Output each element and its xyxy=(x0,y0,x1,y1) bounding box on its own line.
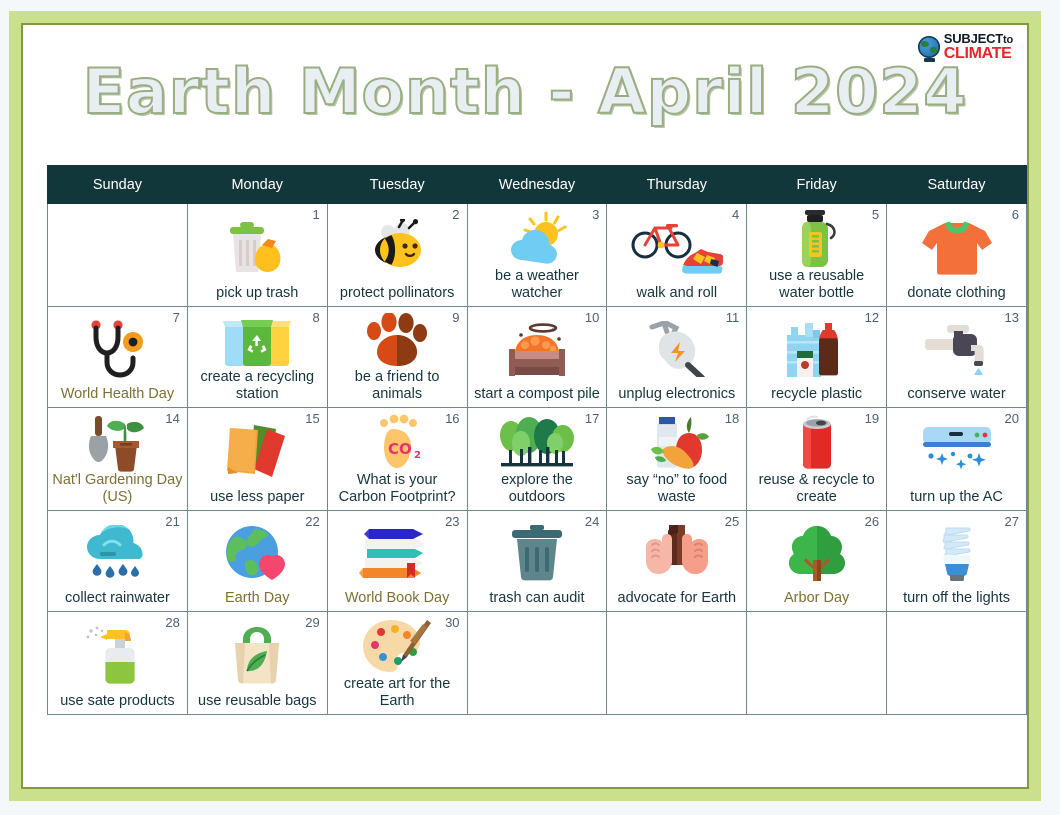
day-cell-content: 9be a friend to animals xyxy=(328,307,467,407)
activity-label: What is your Carbon Footprint? xyxy=(328,472,467,506)
day-cell-content: 16CO2What is your Carbon Footprint? xyxy=(328,408,467,510)
calendar-week-row: 28use sate products29use reusable bags30… xyxy=(48,612,1027,715)
day-cell-content: 7World Health Day xyxy=(48,307,187,407)
day-cell-content: 5use a reusable water bottle xyxy=(747,204,886,306)
calendar-cell-day-1[interactable]: 1pick up trash xyxy=(187,204,327,307)
day-cell-content xyxy=(607,612,746,714)
day-cell-content: 10start a compost pile xyxy=(468,307,607,407)
day-number: 1 xyxy=(312,207,319,222)
activity-label: Earth Day xyxy=(221,590,293,608)
weekday-header-wednesday: Wednesday xyxy=(467,166,607,204)
day-cell-content: 12recycle plastic xyxy=(747,307,886,407)
day-number: 28 xyxy=(165,615,179,630)
activity-label: create art for the Earth xyxy=(328,676,467,710)
trash-bag-icon xyxy=(188,204,327,285)
brand-logo-bottom: CLIMATE xyxy=(944,46,1013,61)
calendar-cell-day-2[interactable]: 2protect pollinators xyxy=(327,204,467,307)
brand-logo-top: SUBJECTto xyxy=(944,33,1013,45)
calendar-cell-day-27[interactable]: 27turn off the lights xyxy=(887,511,1027,612)
calendar-week-row: 7World Health Day8create a recycling sta… xyxy=(48,307,1027,408)
day-cell-content xyxy=(48,204,187,306)
calendar-cell-day-29[interactable]: 29use reusable bags xyxy=(187,612,327,715)
day-cell-content: 29use reusable bags xyxy=(188,612,327,714)
calendar-week-row: 21collect rainwater22Earth Day23World Bo… xyxy=(48,511,1027,612)
day-number: 17 xyxy=(585,411,599,426)
day-cell-content: 30create art for the Earth xyxy=(328,612,467,714)
day-number: 8 xyxy=(312,310,319,325)
day-number: 7 xyxy=(173,310,180,325)
activity-label: conserve water xyxy=(903,386,1009,404)
calendar-cell-empty xyxy=(747,612,887,715)
activity-label: collect rainwater xyxy=(61,590,174,608)
activity-label: walk and roll xyxy=(633,285,722,303)
day-cell-content: 23World Book Day xyxy=(328,511,467,611)
day-cell-content: 21collect rainwater xyxy=(48,511,187,611)
activity-label: turn up the AC xyxy=(906,489,1007,507)
day-cell-content: 11unplug electronics xyxy=(607,307,746,407)
calendar-cell-day-18[interactable]: 18say “no” to food waste xyxy=(607,408,747,511)
day-number: 29 xyxy=(305,615,319,630)
day-number: 6 xyxy=(1012,207,1019,222)
calendar-week-row: 1pick up trash2protect pollinators3be a … xyxy=(48,204,1027,307)
activity-label: protect pollinators xyxy=(336,285,458,303)
day-number: 15 xyxy=(305,411,319,426)
weekday-header-sunday: Sunday xyxy=(48,166,188,204)
day-number: 30 xyxy=(445,615,459,630)
day-number: 21 xyxy=(165,514,179,529)
activity-label: use reusable bags xyxy=(194,693,321,711)
day-cell-content: 20turn up the AC xyxy=(887,408,1026,510)
activity-label: explore the outdoors xyxy=(468,472,607,506)
day-cell-content: 8create a recycling station xyxy=(188,307,327,407)
day-number: 18 xyxy=(725,411,739,426)
water-bottle-icon xyxy=(747,204,886,268)
calendar: Sunday Monday Tuesday Wednesday Thursday… xyxy=(47,165,1027,715)
poster-outer-border: SUBJECTto CLIMATE Earth Month - April 20… xyxy=(9,11,1041,801)
activity-label: reuse & recycle to create xyxy=(747,472,886,506)
brand-logo-text: SUBJECTto CLIMATE xyxy=(944,33,1013,62)
activity-label: trash can audit xyxy=(485,590,588,608)
calendar-cell-empty xyxy=(48,204,188,307)
day-number: 12 xyxy=(865,310,879,325)
day-cell-content xyxy=(887,612,1026,714)
calendar-cell-day-16[interactable]: 16CO2What is your Carbon Footprint? xyxy=(327,408,467,511)
bee-icon xyxy=(328,204,467,285)
calendar-table: Sunday Monday Tuesday Wednesday Thursday… xyxy=(47,165,1027,715)
activity-label: Nat'l Gardening Day (US) xyxy=(48,472,187,506)
calendar-cell-day-7[interactable]: 7World Health Day xyxy=(48,307,188,408)
day-cell-content: 6donate clothing xyxy=(887,204,1026,306)
activity-label: pick up trash xyxy=(212,285,302,303)
page-title: Earth Month - April 2024 xyxy=(23,25,1027,128)
calendar-cell-day-11[interactable]: 11unplug electronics xyxy=(607,307,747,408)
calendar-cell-day-30[interactable]: 30create art for the Earth xyxy=(327,612,467,715)
weekday-header-friday: Friday xyxy=(747,166,887,204)
calendar-cell-day-25[interactable]: 25advocate for Earth xyxy=(607,511,747,612)
day-cell-content: 28use sate products xyxy=(48,612,187,714)
calendar-cell-day-19[interactable]: 19reuse & recycle to create xyxy=(747,408,887,511)
day-cell-content: 3be a weather watcher xyxy=(468,204,607,306)
calendar-cell-empty xyxy=(887,612,1027,715)
activity-label: be a friend to animals xyxy=(328,369,467,403)
day-cell-content: 19reuse & recycle to create xyxy=(747,408,886,510)
calendar-cell-day-22[interactable]: 22Earth Day xyxy=(187,511,327,612)
day-number: 23 xyxy=(445,514,459,529)
svg-text:CO: CO xyxy=(388,440,412,458)
day-cell-content: 25advocate for Earth xyxy=(607,511,746,611)
calendar-cell-day-10[interactable]: 10start a compost pile xyxy=(467,307,607,408)
day-number: 20 xyxy=(1005,411,1019,426)
weekday-header-tuesday: Tuesday xyxy=(327,166,467,204)
calendar-cell-day-14[interactable]: 14Nat'l Gardening Day (US) xyxy=(48,408,188,511)
day-number: 2 xyxy=(452,207,459,222)
day-cell-content: 17explore the outdoors xyxy=(468,408,607,510)
weekday-header-thursday: Thursday xyxy=(607,166,747,204)
day-cell-content: 24trash can audit xyxy=(468,511,607,611)
activity-label: turn off the lights xyxy=(899,590,1014,608)
activity-label: recycle plastic xyxy=(767,386,866,404)
calendar-cell-day-4[interactable]: 4walk and roll xyxy=(607,204,747,307)
calendar-cell-empty xyxy=(607,612,747,715)
day-number: 11 xyxy=(726,310,740,325)
day-cell-content: 2protect pollinators xyxy=(328,204,467,306)
calendar-cell-day-28[interactable]: 28use sate products xyxy=(48,612,188,715)
day-cell-content: 15use less paper xyxy=(188,408,327,510)
activity-label: use a reusable water bottle xyxy=(747,268,886,302)
sun-cloud-icon xyxy=(468,204,607,268)
day-number: 25 xyxy=(725,514,739,529)
calendar-cell-empty xyxy=(467,612,607,715)
svg-text:2: 2 xyxy=(414,450,421,461)
weekday-header-monday: Monday xyxy=(187,166,327,204)
weekday-header-saturday: Saturday xyxy=(887,166,1027,204)
calendar-cell-day-23[interactable]: 23World Book Day xyxy=(327,511,467,612)
activity-label: donate clothing xyxy=(903,285,1009,303)
calendar-body: 1pick up trash2protect pollinators3be a … xyxy=(48,204,1027,715)
tshirt-icon xyxy=(887,204,1026,285)
day-number: 10 xyxy=(585,310,599,325)
day-cell-content: 13conserve water xyxy=(887,307,1026,407)
paw-print-icon xyxy=(328,307,467,369)
day-cell-content: 27turn off the lights xyxy=(887,511,1026,611)
day-number: 16 xyxy=(445,411,459,426)
day-cell-content xyxy=(747,612,886,714)
poster-page: SUBJECTto CLIMATE Earth Month - April 20… xyxy=(21,23,1029,789)
activity-label: use sate products xyxy=(56,693,178,711)
day-number: 13 xyxy=(1005,310,1019,325)
day-number: 24 xyxy=(585,514,599,529)
bicycle-sneaker-icon xyxy=(607,204,746,285)
activity-label: World Book Day xyxy=(341,590,454,608)
calendar-cell-day-24[interactable]: 24trash can audit xyxy=(467,511,607,612)
day-cell-content: 22Earth Day xyxy=(188,511,327,611)
day-cell-content: 14Nat'l Gardening Day (US) xyxy=(48,408,187,510)
day-number: 14 xyxy=(165,411,179,426)
calendar-cell-day-21[interactable]: 21collect rainwater xyxy=(48,511,188,612)
day-number: 5 xyxy=(872,207,879,222)
day-number: 19 xyxy=(865,411,879,426)
day-number: 9 xyxy=(452,310,459,325)
globe-icon xyxy=(918,36,940,58)
activity-label: World Health Day xyxy=(57,386,178,404)
calendar-cell-day-26[interactable]: 26Arbor Day xyxy=(747,511,887,612)
calendar-cell-day-17[interactable]: 17explore the outdoors xyxy=(467,408,607,511)
day-number: 27 xyxy=(1005,514,1019,529)
activity-label: start a compost pile xyxy=(470,386,604,404)
day-number: 4 xyxy=(732,207,739,222)
brand-logo[interactable]: SUBJECTto CLIMATE xyxy=(918,33,1013,62)
activity-label: say “no” to food waste xyxy=(607,472,746,506)
day-cell-content: 26Arbor Day xyxy=(747,511,886,611)
calendar-cell-day-5[interactable]: 5use a reusable water bottle xyxy=(747,204,887,307)
calendar-cell-day-9[interactable]: 9be a friend to animals xyxy=(327,307,467,408)
day-cell-content xyxy=(468,612,607,714)
day-cell-content: 4walk and roll xyxy=(607,204,746,306)
activity-label: use less paper xyxy=(206,489,308,507)
calendar-cell-day-8[interactable]: 8create a recycling station xyxy=(187,307,327,408)
calendar-cell-day-13[interactable]: 13conserve water xyxy=(887,307,1027,408)
day-cell-content: 1pick up trash xyxy=(188,204,327,306)
activity-label: be a weather watcher xyxy=(468,268,607,302)
day-number: 22 xyxy=(305,514,319,529)
day-number: 26 xyxy=(865,514,879,529)
activity-label: Arbor Day xyxy=(780,590,853,608)
calendar-cell-day-3[interactable]: 3be a weather watcher xyxy=(467,204,607,307)
day-number: 3 xyxy=(592,207,599,222)
activity-label: create a recycling station xyxy=(188,369,327,403)
calendar-week-row: 14Nat'l Gardening Day (US)15use less pap… xyxy=(48,408,1027,511)
activity-label: unplug electronics xyxy=(614,386,739,404)
calendar-cell-day-12[interactable]: 12recycle plastic xyxy=(747,307,887,408)
recycling-bins-icon xyxy=(188,307,327,369)
weekday-header-row: Sunday Monday Tuesday Wednesday Thursday… xyxy=(48,166,1027,204)
stethoscope-icon xyxy=(48,307,187,386)
day-cell-content: 18say “no” to food waste xyxy=(607,408,746,510)
calendar-cell-day-6[interactable]: 6donate clothing xyxy=(887,204,1027,307)
activity-label: advocate for Earth xyxy=(614,590,741,608)
calendar-cell-day-20[interactable]: 20turn up the AC xyxy=(887,408,1027,511)
calendar-cell-day-15[interactable]: 15use less paper xyxy=(187,408,327,511)
